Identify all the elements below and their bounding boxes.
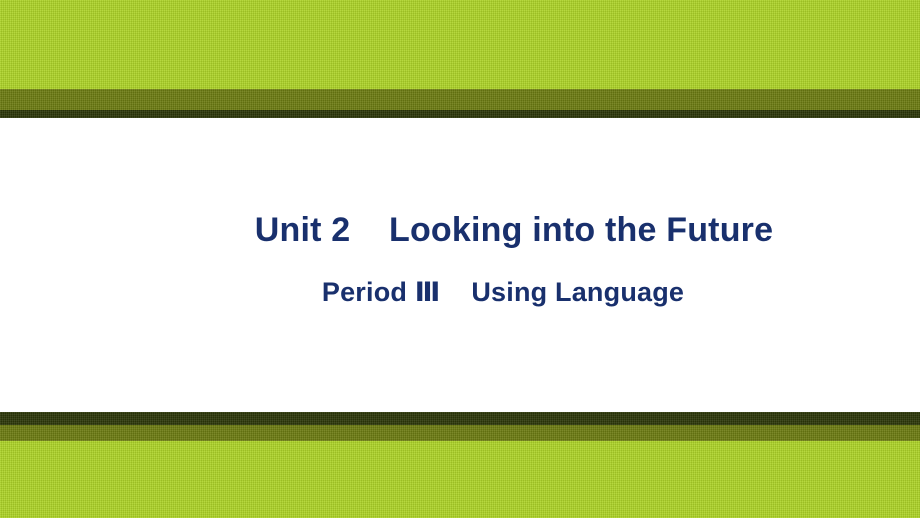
presentation-slide: Unit 2 Looking into the Future Period Ⅲ … xyxy=(0,0,920,518)
page-subtitle-suffix: Using Language xyxy=(441,277,685,307)
slide-content-area: Unit 2 Looking into the Future Period Ⅲ … xyxy=(0,118,920,412)
bottom-olive-green-band xyxy=(0,425,920,441)
top-dark-green-band xyxy=(0,110,920,118)
page-subtitle: Period Ⅲ Using Language xyxy=(0,279,920,306)
bottom-bright-green-band xyxy=(0,441,920,518)
bottom-dark-green-band xyxy=(0,412,920,425)
top-olive-green-band xyxy=(0,89,920,110)
roman-numeral-three-icon: Ⅲ xyxy=(415,277,441,308)
page-subtitle-prefix: Period xyxy=(322,277,415,307)
top-bright-green-band xyxy=(0,0,920,89)
page-title: Unit 2 Looking into the Future xyxy=(0,213,920,247)
